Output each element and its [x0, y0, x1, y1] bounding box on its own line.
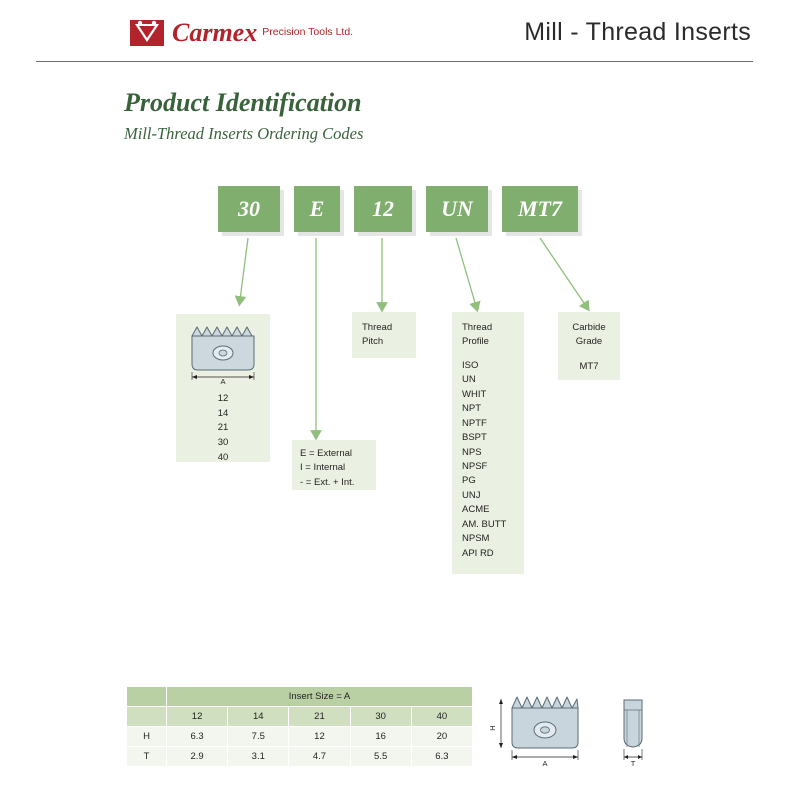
thread-profile-title-line2: Profile: [462, 335, 524, 349]
table-cell: 7.5: [228, 727, 289, 747]
header-divider: [36, 61, 753, 62]
direction-option: I = Internal: [300, 461, 368, 475]
row-label: H: [127, 727, 167, 747]
thread-profile-value: NPSF: [462, 460, 524, 474]
table-cell: 16: [350, 727, 411, 747]
page-subtitle: Mill-Thread Inserts Ordering Codes: [124, 124, 363, 144]
callout-carbide-grade: Carbide Grade MT7: [558, 312, 620, 380]
thread-profile-value: WHIT: [462, 388, 524, 402]
table-column-header: 40: [411, 707, 472, 727]
table-column-header: 12: [167, 707, 228, 727]
thread-profile-value: ISO: [462, 359, 524, 373]
thread-pitch-title-line2: Pitch: [362, 335, 406, 349]
thread-profile-value: PG: [462, 474, 524, 488]
insert-size-value: 30: [176, 436, 270, 451]
brand-logo: Carmex Precision Tools Ltd.: [130, 18, 353, 48]
table-corner-cell-2: [127, 707, 167, 727]
insert-size-value: 21: [176, 421, 270, 436]
table-cell: 5.5: [350, 747, 411, 767]
table-column-row: 12 14 21 30 40: [127, 707, 473, 727]
callout-direction: E = External I = Internal - = Ext. + Int…: [292, 440, 376, 490]
code-box-direction[interactable]: E: [294, 186, 340, 232]
insert-size-values: 12 14 21 30 40: [176, 392, 270, 466]
page-header: Carmex Precision Tools Ltd. Mill - Threa…: [0, 0, 789, 64]
carbide-grade-value: MT7: [558, 360, 620, 374]
thread-profile-value: NPSM: [462, 532, 524, 546]
table-cell: 6.3: [167, 727, 228, 747]
carbide-grade-title-line2: Grade: [558, 335, 620, 349]
page-title: Product Identification: [124, 88, 362, 118]
svg-text:A: A: [220, 377, 225, 386]
svg-text:A: A: [542, 759, 547, 768]
thread-profile-value: API RD: [462, 547, 524, 561]
table-span-header: Insert Size = A: [167, 687, 473, 707]
insert-size-value: 14: [176, 407, 270, 422]
code-box-insert-size[interactable]: 30: [218, 186, 280, 232]
insert-size-value: 12: [176, 392, 270, 407]
callout-insert-size: A 12 14 21 30 40: [176, 314, 270, 462]
callout-thread-profile: Thread Profile ISO UN WHIT NPT NPTF BSPT…: [452, 312, 524, 574]
thread-profile-value: ACME: [462, 503, 524, 517]
thread-pitch-title-line1: Thread: [362, 321, 406, 335]
table-cell: 12: [289, 727, 350, 747]
insert-size-value: 40: [176, 451, 270, 466]
svg-text:H: H: [488, 725, 497, 730]
thread-profile-value: UNJ: [462, 489, 524, 503]
direction-option: E = External: [300, 447, 368, 461]
brand-name: Carmex: [172, 20, 257, 46]
carbide-grade-title-line1: Carbide: [558, 321, 620, 335]
thread-profile-title-line1: Thread: [462, 321, 524, 335]
table-cell: 6.3: [411, 747, 472, 767]
page-header-title: Mill - Thread Inserts: [524, 18, 751, 47]
connector-arrows: [0, 0, 789, 789]
table-column-header: 14: [228, 707, 289, 727]
table-cell: 3.1: [228, 747, 289, 767]
table-column-header: 30: [350, 707, 411, 727]
table-cell: 20: [411, 727, 472, 747]
thread-profile-value: NPS: [462, 446, 524, 460]
carmex-logo-icon: [130, 18, 166, 48]
table-header-row: Insert Size = A: [127, 687, 473, 707]
row-label: T: [127, 747, 167, 767]
table-row: H 6.3 7.5 12 16 20: [127, 727, 473, 747]
thread-profile-value: NPT: [462, 402, 524, 416]
code-box-thread-pitch[interactable]: 12: [354, 186, 412, 232]
callout-thread-pitch: Thread Pitch: [352, 312, 416, 358]
svg-text:T: T: [631, 759, 636, 768]
table-row: T 2.9 3.1 4.7 5.5 6.3: [127, 747, 473, 767]
brand-subtitle: Precision Tools Ltd.: [262, 26, 353, 40]
direction-option: - = Ext. + Int.: [300, 476, 368, 490]
table-corner-cell: [127, 687, 167, 707]
insert-drawing: A: [176, 314, 270, 386]
code-box-carbide-grade[interactable]: MT7: [502, 186, 578, 232]
thread-profile-value: NPTF: [462, 417, 524, 431]
table-column-header: 21: [289, 707, 350, 727]
code-box-thread-profile[interactable]: UN: [426, 186, 488, 232]
table-cell: 2.9: [167, 747, 228, 767]
table-cell: 4.7: [289, 747, 350, 767]
insert-dimensions-table: Insert Size = A 12 14 21 30 40 H 6.3 7.5…: [126, 686, 473, 767]
insert-dimension-figure: H A T: [486, 686, 676, 772]
thread-profile-value: BSPT: [462, 431, 524, 445]
thread-profile-value: UN: [462, 373, 524, 387]
thread-profile-value: AM. BUTT: [462, 518, 524, 532]
